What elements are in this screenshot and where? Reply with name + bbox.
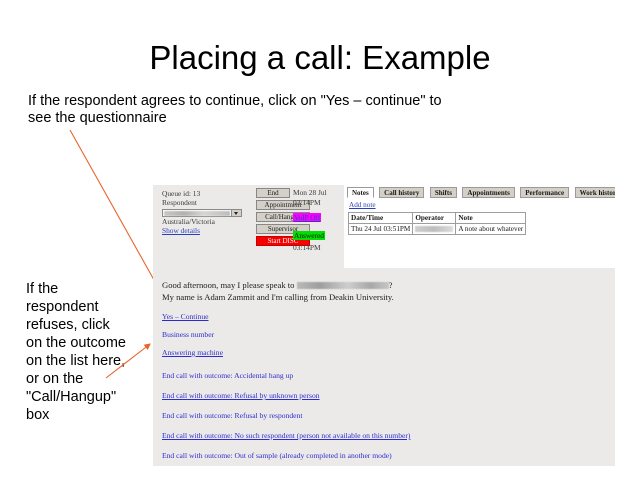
- slide-canvas: Placing a call: Example If the responden…: [0, 0, 640, 480]
- status-time-top: 03:14PM: [293, 198, 343, 208]
- link-outcome-refusal-respondent[interactable]: End call with outcome: Refusal by respon…: [162, 411, 602, 420]
- end-button[interactable]: End: [256, 188, 290, 198]
- notes-tabs: Notes Call history Shifts Appointments P…: [347, 187, 615, 198]
- page-title: Placing a call: Example: [0, 38, 640, 78]
- chevron-down-icon[interactable]: [231, 210, 241, 216]
- embedded-app-screenshot: Queue id: 13 Respondent Australia/Victor…: [153, 185, 615, 466]
- respondent-label: Respondent: [162, 198, 248, 207]
- voip-status-badge[interactable]: VoIP Off: [293, 213, 321, 222]
- tab-notes[interactable]: Notes: [347, 187, 374, 198]
- link-outcome-accidental-hangup[interactable]: End call with outcome: Accidental hang u…: [162, 371, 602, 380]
- outcome-link-list: End call with outcome: Accidental hang u…: [162, 371, 602, 460]
- annotation-left: If the respondent refuses, click on the …: [26, 280, 126, 424]
- call-status-block: Mon 28 Jul 03:14PM VoIP Off Answered 03:…: [293, 188, 343, 253]
- table-header-row: Date/Time Operator Note: [349, 213, 526, 224]
- link-outcome-no-such-respondent[interactable]: End call with outcome: No such responden…: [162, 431, 602, 440]
- script-question-mark: ?: [389, 280, 393, 290]
- call-control-strip: Queue id: 13 Respondent Australia/Victor…: [153, 185, 343, 257]
- call-answered-badge: Answered: [293, 231, 325, 240]
- tab-appointments[interactable]: Appointments: [462, 187, 514, 198]
- script-greeting: Good afternoon, may I please speak to: [162, 280, 297, 290]
- redacted-respondent-inline: [297, 282, 389, 289]
- tab-performance[interactable]: Performance: [520, 187, 569, 198]
- notes-table: Date/Time Operator Note Thu 24 Jul 03:51…: [348, 212, 526, 235]
- link-outcome-refusal-unknown[interactable]: End call with outcome: Refusal by unknow…: [162, 391, 602, 400]
- queue-id-label: Queue id: 13: [162, 189, 248, 198]
- tab-call-history[interactable]: Call history: [379, 187, 424, 198]
- column-datetime: Date/Time: [349, 213, 413, 224]
- link-outcome-out-of-sample[interactable]: End call with outcome: Out of sample (al…: [162, 451, 602, 460]
- add-note-link[interactable]: Add note: [349, 201, 376, 209]
- redacted-respondent-name: [164, 211, 230, 216]
- show-details-link[interactable]: Show details: [162, 226, 248, 235]
- cell-operator: [413, 224, 456, 235]
- link-answering-machine[interactable]: Answering machine: [162, 348, 602, 357]
- timezone-label: Australia/Victoria: [162, 217, 248, 226]
- notes-panel: Notes Call history Shifts Appointments P…: [344, 185, 615, 268]
- tab-work-history[interactable]: Work history: [575, 187, 615, 198]
- script-line-1: Good afternoon, may I please speak to ?: [162, 280, 602, 292]
- annotation-top: If the respondent agrees to continue, cl…: [28, 93, 458, 127]
- table-row[interactable]: Thu 24 Jul 03:51PM A note about whatever: [349, 224, 526, 235]
- cell-note: A note about whatever: [456, 224, 526, 235]
- tab-shifts[interactable]: Shifts: [430, 187, 457, 198]
- column-note: Note: [456, 213, 526, 224]
- respondent-select[interactable]: [162, 209, 242, 217]
- column-operator: Operator: [413, 213, 456, 224]
- link-business-number[interactable]: Business number: [162, 330, 602, 339]
- redacted-operator-name: [415, 226, 453, 232]
- status-time-bottom: 03:14PM: [293, 243, 343, 253]
- script-line-2: My name is Adam Zammit and I'm calling f…: [162, 292, 602, 304]
- status-date: Mon 28 Jul: [293, 188, 343, 198]
- cell-datetime: Thu 24 Jul 03:51PM: [349, 224, 413, 235]
- link-yes-continue[interactable]: Yes – Continue: [162, 312, 602, 321]
- respondent-block: Queue id: 13 Respondent Australia/Victor…: [162, 189, 248, 236]
- script-area: Good afternoon, may I please speak to ? …: [162, 280, 602, 460]
- arrow-top: [70, 130, 163, 296]
